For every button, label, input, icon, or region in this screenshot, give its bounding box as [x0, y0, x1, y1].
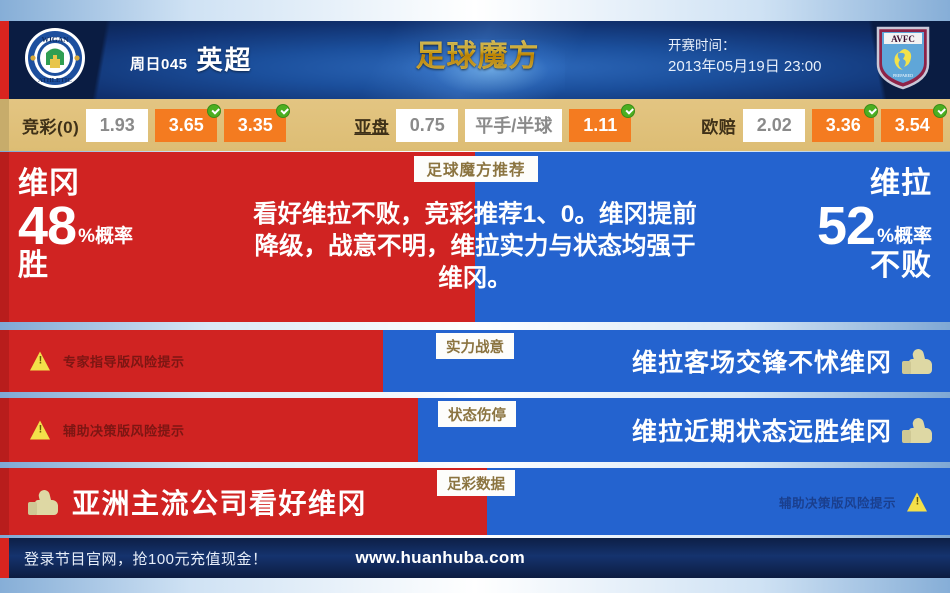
thumbs-up-icon — [28, 489, 58, 515]
risk-note-panel-blue: 辅助决策版风险提示 — [487, 468, 950, 535]
warning-triangle-icon — [30, 421, 51, 440]
odds-cell[interactable]: 1.11 — [569, 109, 631, 142]
odds-bar: 竞彩(0) 1.93 3.65 3.35 亚盘 0.75 平手/半球 1.11 — [0, 99, 950, 151]
odds-value: 3.54 — [895, 115, 930, 136]
home-percent-unit: %概率 — [78, 227, 133, 252]
odds-cell[interactable]: 3.54 — [881, 109, 943, 142]
risk-note-text: 辅助决策版风险提示 — [63, 421, 185, 440]
probability-panel-accent — [0, 152, 9, 322]
odds-value: 0.75 — [410, 115, 445, 136]
warning-triangle-icon — [907, 492, 928, 511]
odds-value: 2.02 — [757, 115, 792, 136]
tab-betting-data[interactable]: 足彩数据 — [437, 470, 515, 496]
brand-logo: 足球魔方 — [415, 30, 540, 76]
odds-value: 3.65 — [169, 115, 204, 136]
match-title: 周日045 英超 — [130, 40, 253, 77]
odds-bar-accent — [0, 99, 9, 151]
odds-group-jingcai: 竞彩(0) 1.93 3.65 3.35 — [22, 109, 286, 142]
kickoff-label: 开赛时间： — [668, 36, 821, 56]
insight-message: 维拉客场交锋不怵维冈 — [632, 343, 892, 379]
thumbs-up-icon — [902, 348, 932, 374]
odds-cell[interactable]: 0.75 — [396, 109, 458, 142]
odds-cell[interactable]: 1.93 — [86, 109, 148, 142]
broadcast-graphic: WIGAN ATHLETIC AVFC PREPARED 周日045 英超 足球… — [0, 0, 950, 593]
row-accent — [0, 330, 9, 392]
svg-text:ATHLETIC: ATHLETIC — [38, 77, 72, 84]
check-badge-icon — [933, 104, 947, 118]
odds-group-title: 欧赔 — [701, 113, 736, 138]
odds-group-oupei: 欧赔 2.02 3.36 3.54 — [701, 109, 943, 142]
odds-cell-handicap[interactable]: 平手/半球 — [465, 109, 562, 142]
check-badge-icon — [621, 104, 635, 118]
odds-cell[interactable]: 3.35 — [224, 109, 286, 142]
insight-message-wrap: 维拉近期状态远胜维冈 — [632, 412, 932, 448]
odds-group-yapan: 亚盘 0.75 平手/半球 1.11 — [354, 109, 631, 142]
kickoff-info: 开赛时间： 2013年05月19日 23:00 — [668, 36, 821, 79]
odds-value: 平手/半球 — [475, 112, 552, 138]
match-league: 英超 — [197, 40, 253, 77]
risk-note-text: 专家指导版风险提示 — [63, 352, 185, 371]
betting-message: 亚洲主流公司看好维冈 — [72, 482, 367, 522]
top-gradient-stripe — [0, 0, 950, 21]
odds-value: 3.36 — [826, 115, 861, 136]
risk-note: 辅助决策版风险提示 — [30, 421, 185, 440]
tab-recommendation[interactable]: 足球魔方推荐 — [414, 156, 538, 182]
bottom-gradient-stripe — [0, 578, 950, 593]
away-probability-text: 维拉 52 %概率 不败 — [817, 168, 932, 282]
odds-cell[interactable]: 3.65 — [155, 109, 217, 142]
home-percent-value: 48 — [18, 202, 76, 252]
odds-value: 1.11 — [583, 115, 617, 136]
home-probability-text: 维冈 48 %概率 胜 — [18, 168, 133, 282]
odds-value: 3.35 — [238, 115, 273, 136]
advice-text: 看好维拉不败，竞彩推荐1、0。维冈提前降级，战意不明，维拉实力与状态均强于维冈。 — [246, 199, 704, 296]
home-team-crest-wigan: WIGAN ATHLETIC — [24, 27, 86, 89]
insight-message-wrap: 维拉客场交锋不怵维冈 — [632, 343, 932, 379]
betting-message-wrap: 亚洲主流公司看好维冈 — [28, 482, 367, 522]
footer-url[interactable]: www.huanhuba.com — [356, 548, 525, 568]
check-badge-icon — [276, 104, 290, 118]
betting-message-panel: 亚洲主流公司看好维冈 — [0, 468, 487, 535]
check-badge-icon — [864, 104, 878, 118]
risk-note: 专家指导版风险提示 — [30, 352, 185, 371]
footer-accent — [0, 538, 9, 578]
insight-message: 维拉近期状态远胜维冈 — [632, 412, 892, 448]
odds-group-title: 亚盘 — [354, 113, 389, 138]
thumbs-up-icon — [902, 417, 932, 443]
risk-note-panel: 辅助决策版风险提示 — [0, 398, 418, 462]
tab-strength-intent[interactable]: 实力战意 — [436, 333, 514, 359]
header-red-accent — [0, 21, 9, 99]
row-accent — [0, 468, 9, 535]
warning-triangle-icon — [30, 352, 51, 371]
risk-note-blue: 辅助决策版风险提示 — [779, 492, 928, 511]
odds-cell[interactable]: 3.36 — [812, 109, 874, 142]
svg-text:WIGAN: WIGAN — [41, 35, 69, 44]
svg-text:AVFC: AVFC — [891, 34, 915, 44]
risk-note-panel: 专家指导版风险提示 — [0, 330, 383, 392]
risk-note-text: 辅助决策版风险提示 — [779, 492, 896, 511]
odds-value: 1.93 — [100, 115, 135, 136]
kickoff-time: 2013年05月19日 23:00 — [668, 56, 821, 79]
tab-form-injury[interactable]: 状态伤停 — [438, 401, 516, 427]
svg-text:PREPARED: PREPARED — [893, 73, 913, 78]
footer-promo: 登录节目官网，抢100元充值现金！ — [24, 548, 268, 569]
away-percent-value: 52 — [817, 202, 875, 252]
row-accent — [0, 398, 9, 462]
away-team-crest-aston-villa: AVFC PREPARED — [874, 24, 932, 90]
footer-bar: 登录节目官网，抢100元充值现金！ www.huanhuba.com — [0, 538, 950, 578]
check-badge-icon — [207, 104, 221, 118]
odds-group-title: 竞彩(0) — [22, 113, 79, 138]
odds-cell[interactable]: 2.02 — [743, 109, 805, 142]
match-round: 周日045 — [130, 53, 188, 74]
